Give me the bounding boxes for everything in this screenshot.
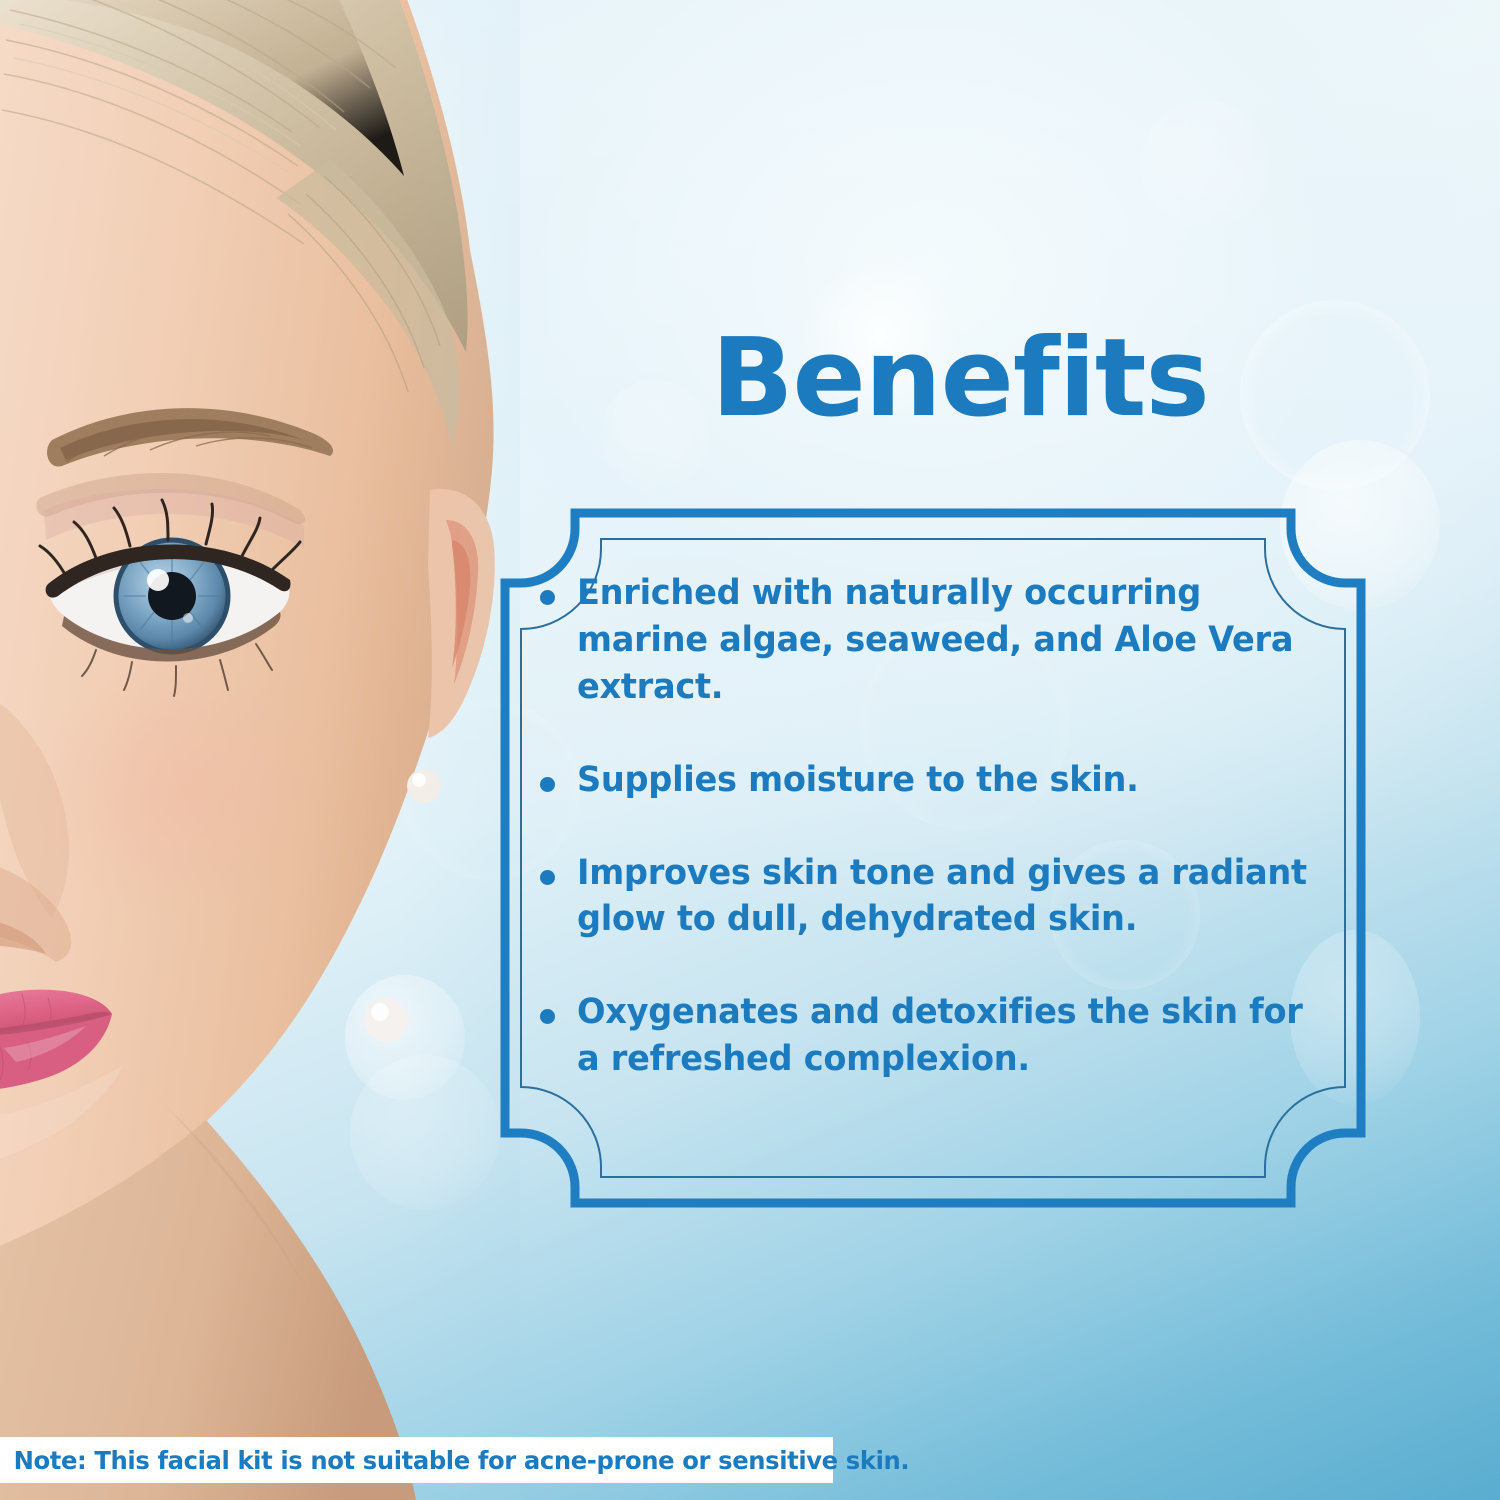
list-item: Enriched with naturally occurring marine… bbox=[540, 570, 1340, 711]
note-banner: Note: This facial kit is not suitable fo… bbox=[0, 1437, 833, 1483]
list-item: Improves skin tone and gives a radiant g… bbox=[540, 850, 1340, 944]
benefit-text: Improves skin tone and gives a radiant g… bbox=[577, 850, 1309, 944]
bullet-dot-icon bbox=[540, 590, 555, 605]
model-portrait-image bbox=[0, 0, 520, 1500]
benefits-list: Enriched with naturally occurring marine… bbox=[540, 570, 1340, 1083]
bullet-dot-icon bbox=[540, 870, 555, 885]
page-title: Benefits bbox=[500, 325, 1420, 433]
list-item: Oxygenates and detoxifies the skin for a… bbox=[540, 989, 1340, 1083]
poster-canvas: Benefits Enriched with naturally occurri… bbox=[0, 0, 1500, 1500]
benefit-text: Oxygenates and detoxifies the skin for a… bbox=[577, 989, 1309, 1083]
benefit-text: Enriched with naturally occurring marine… bbox=[577, 570, 1309, 711]
note-text: Note: This facial kit is not suitable fo… bbox=[0, 1446, 909, 1475]
benefit-text: Supplies moisture to the skin. bbox=[577, 757, 1309, 804]
list-item: Supplies moisture to the skin. bbox=[540, 757, 1340, 804]
bullet-dot-icon bbox=[540, 777, 555, 792]
bullet-dot-icon bbox=[540, 1009, 555, 1024]
